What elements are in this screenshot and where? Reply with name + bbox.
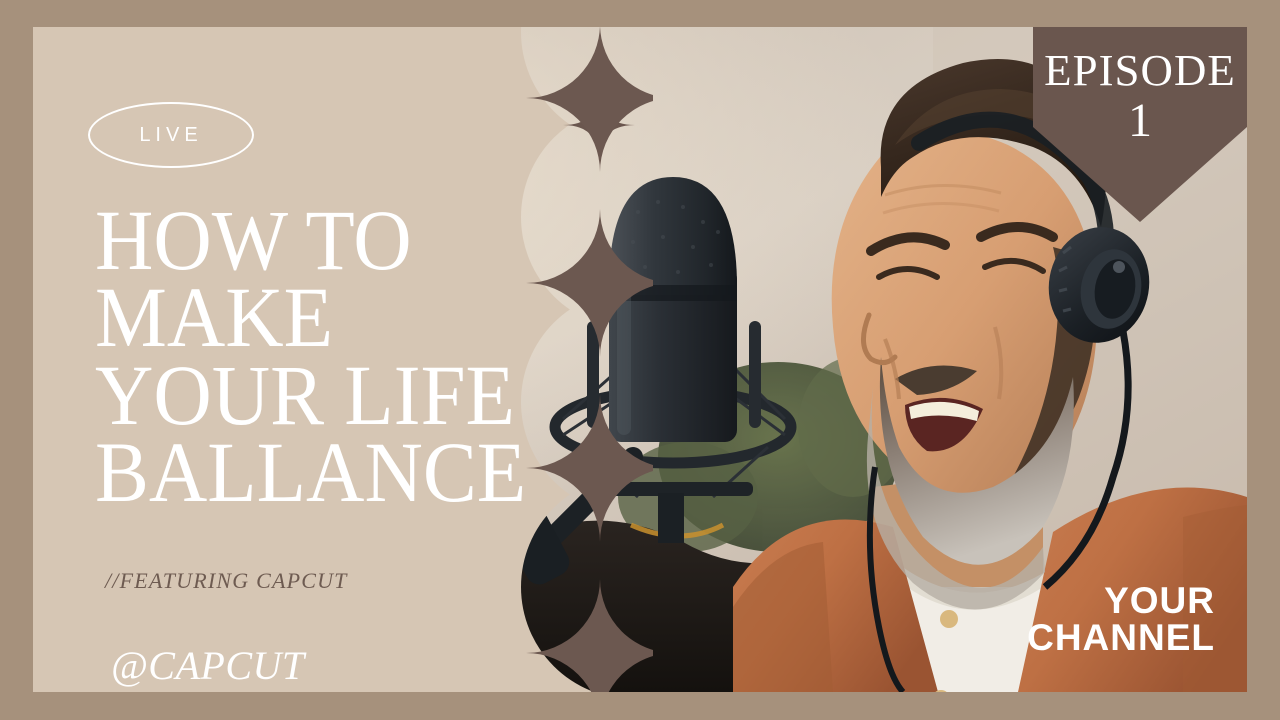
- headline-line-2: MAKE: [95, 279, 537, 356]
- headline-line-3: YOUR LIFE: [95, 357, 537, 434]
- social-handle: @CAPCUT: [111, 642, 305, 689]
- page-title: HOW TO MAKE YOUR LIFE BALLANCE: [95, 202, 537, 512]
- thumbnail-canvas: LIVE HOW TO MAKE YOUR LIFE BALLANCE //FE…: [0, 0, 1280, 720]
- live-badge-label: LIVE: [139, 124, 202, 147]
- channel-line-2: CHANNEL: [1027, 619, 1215, 657]
- headline-line-1: HOW TO: [95, 202, 537, 279]
- headline-line-4: BALLANCE: [95, 434, 537, 511]
- channel-name: YOUR CHANNEL: [1027, 582, 1215, 657]
- content-area: LIVE HOW TO MAKE YOUR LIFE BALLANCE //FE…: [33, 27, 1247, 692]
- episode-banner: EPISODE 1: [1033, 27, 1247, 222]
- episode-number: 1: [1033, 97, 1247, 145]
- featuring-subtitle: //FEATURING CAPCUT: [105, 568, 348, 594]
- channel-line-1: YOUR: [1027, 582, 1215, 620]
- episode-label: EPISODE: [1031, 49, 1247, 93]
- live-badge: LIVE: [88, 102, 254, 168]
